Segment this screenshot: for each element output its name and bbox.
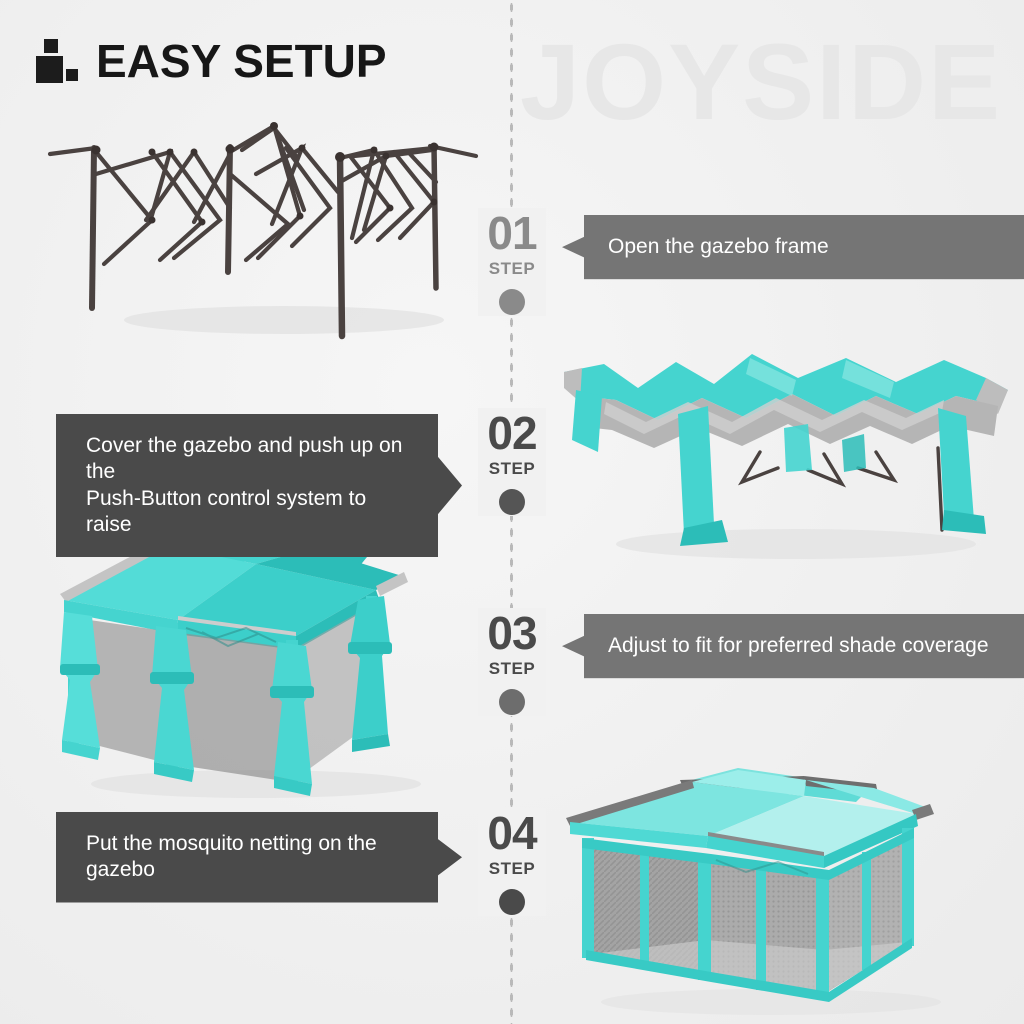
step-number: 03 bbox=[487, 612, 536, 656]
step-dot bbox=[499, 489, 525, 515]
step-callout-02: Cover the gazebo and push up on the Push… bbox=[56, 414, 462, 557]
step-callout-text: Adjust to fit for preferred shade covera… bbox=[608, 633, 989, 659]
gazebo-frame-folded-photo bbox=[34, 112, 486, 340]
step-label: STEP bbox=[489, 859, 535, 879]
gazebo-netting-closed-photo bbox=[556, 764, 986, 1016]
step-label: STEP bbox=[489, 259, 535, 279]
step-timeline: 01 STEP 02 STEP 03 STEP 04 STEP bbox=[476, 0, 548, 1024]
step-dot bbox=[499, 289, 525, 315]
step-dot bbox=[499, 889, 525, 915]
page-title: EASY SETUP bbox=[96, 38, 387, 84]
step-marker-01: 01 STEP bbox=[476, 212, 548, 315]
step-callout-01: Open the gazebo frame bbox=[562, 215, 1024, 279]
step-callout-04: Put the mosquito netting on the gazebo bbox=[56, 812, 462, 903]
step-dot bbox=[499, 689, 525, 715]
step-marker-03: 03 STEP bbox=[476, 612, 548, 715]
step-number: 02 bbox=[487, 412, 536, 456]
gazebo-canopy-draped-photo bbox=[546, 344, 1016, 566]
three-squares-logo-icon bbox=[36, 39, 78, 83]
step-label: STEP bbox=[489, 459, 535, 479]
step-callout-03: Adjust to fit for preferred shade covera… bbox=[562, 614, 1024, 678]
step-callout-text: Put the mosquito netting on the gazebo bbox=[86, 831, 412, 884]
step-marker-04: 04 STEP bbox=[476, 812, 548, 915]
step-callout-text: Cover the gazebo and push up on the Push… bbox=[86, 433, 412, 538]
step-marker-02: 02 STEP bbox=[476, 412, 548, 515]
step-label: STEP bbox=[489, 659, 535, 679]
step-callout-text: Open the gazebo frame bbox=[608, 234, 829, 260]
step-number: 04 bbox=[487, 812, 536, 856]
step-number: 01 bbox=[487, 212, 536, 256]
brand-watermark: JOYSIDE bbox=[520, 28, 1002, 136]
infographic-page: JOYSIDE EASY SETUP bbox=[0, 0, 1024, 1024]
page-header: EASY SETUP bbox=[36, 38, 387, 84]
